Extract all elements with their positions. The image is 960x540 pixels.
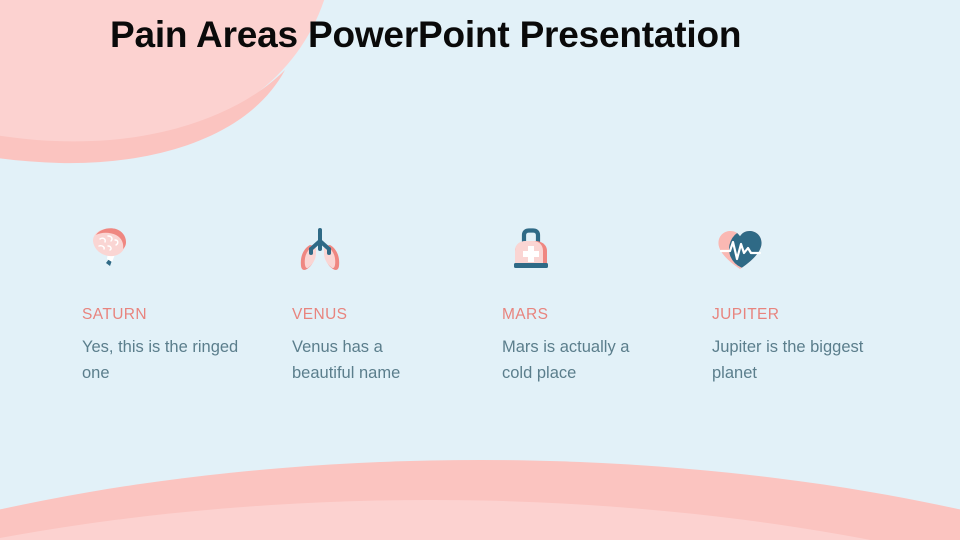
page-title: Pain Areas PowerPoint Presentation (110, 12, 910, 58)
feature-column-mars: MARS Mars is actually a cold place (502, 222, 712, 387)
feature-heading-venus: VENUS (292, 306, 502, 325)
feature-body-venus: Venus has a beautiful name (292, 334, 444, 387)
heartbeat-icon (712, 222, 768, 278)
feature-column-saturn: SATURN Yes, this is the ringed one (82, 222, 292, 387)
presentation-slide: Pain Areas PowerPoint Presentation (0, 0, 960, 540)
bottom-wave-light-shape (0, 500, 960, 540)
feature-heading-saturn: SATURN (82, 306, 292, 325)
feature-body-mars: Mars is actually a cold place (502, 334, 654, 387)
feature-body-saturn: Yes, this is the ringed one (82, 334, 242, 387)
bottom-wave-dark-shape (0, 460, 960, 540)
medical-kit-icon (502, 222, 558, 278)
feature-column-venus: VENUS Venus has a beautiful name (292, 222, 502, 387)
feature-heading-jupiter: JUPITER (712, 306, 922, 325)
feature-columns: SATURN Yes, this is the ringed one VENUS (82, 222, 882, 387)
brain-icon (82, 222, 138, 278)
feature-body-jupiter: Jupiter is the biggest planet (712, 334, 872, 387)
feature-column-jupiter: JUPITER Jupiter is the biggest planet (712, 222, 922, 387)
feature-heading-mars: MARS (502, 306, 712, 325)
lungs-icon (292, 222, 348, 278)
